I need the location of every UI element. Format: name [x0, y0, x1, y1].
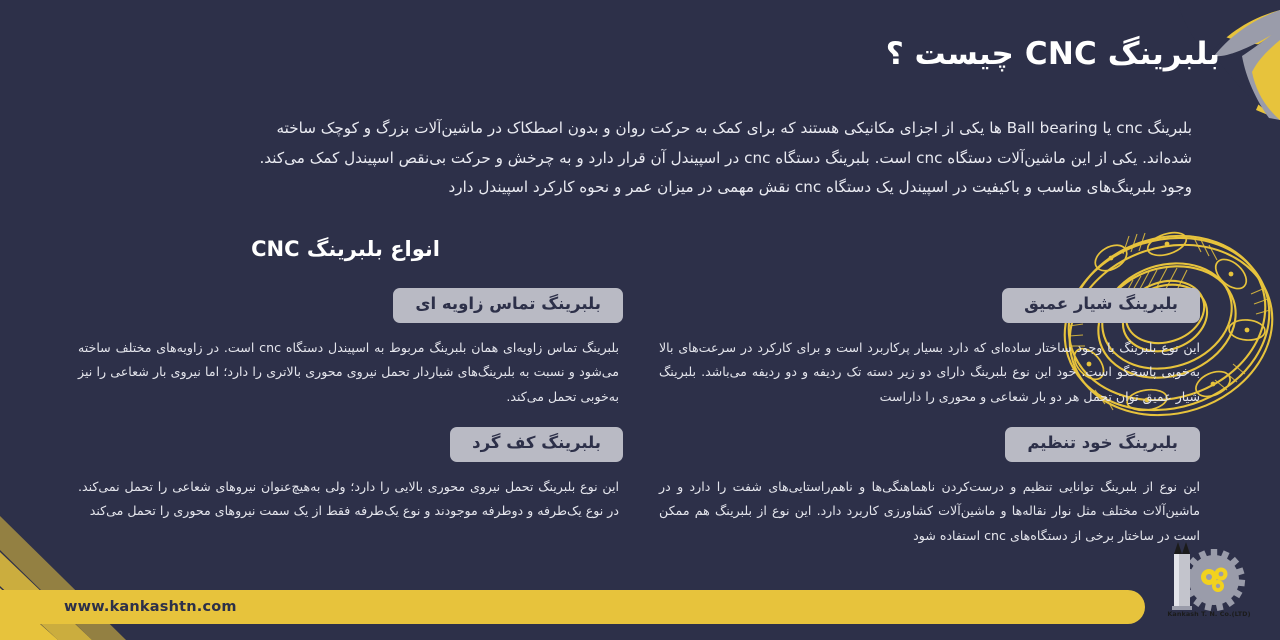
card-angular-contact: بلبرینگ تماس زاویه ای بلبرینگ تماس زاویه… [78, 288, 623, 409]
card-title-self-aligning: بلبرینگ خود تنظیم [1005, 427, 1200, 462]
card-body-thrust: این نوع بلبرینگ تحمل نیروی محوری بالایی … [78, 475, 623, 524]
card-title-angular-contact: بلبرینگ تماس زاویه ای [393, 288, 623, 323]
intro-line-2: شده‌اند. یکی از این ماشین‌آلات دستگاه cn… [88, 144, 1192, 174]
footer-website-link[interactable]: www.kankashtn.com [64, 590, 237, 624]
intro-line-3: وجود بلبرینگ‌های مناسب و باکیفیت در اسپی… [88, 173, 1192, 203]
card-self-aligning: بلبرینگ خود تنظیم این نوع از بلبرینگ توا… [655, 427, 1200, 548]
bearing-types-grid: بلبرینگ شیار عمیق این نوع بلبرینگ با وجو… [78, 288, 1200, 549]
card-body-self-aligning: این نوع از بلبرینگ توانایی تنظیم و درست‌… [655, 475, 1200, 549]
section-heading: انواع بلبرینگ CNC [251, 237, 440, 261]
intro-paragraph: بلبرینگ cnc یا Ball bearing ها یکی از اج… [88, 114, 1192, 203]
card-title-deep-groove: بلبرینگ شیار عمیق [1002, 288, 1200, 323]
card-title-thrust: بلبرینگ کف گرد [450, 427, 623, 462]
brand-caption: Kankash T. N. Co.(LTD) [1160, 610, 1258, 618]
intro-line-1: بلبرینگ cnc یا Ball bearing ها یکی از اج… [88, 114, 1192, 144]
gear-logo-icon [1166, 540, 1252, 616]
card-body-angular-contact: بلبرینگ تماس زاویه‌ای همان بلبرینگ مربوط… [78, 336, 623, 410]
page-title: بلبرینگ CNC چیست ؟ [886, 36, 1220, 72]
card-deep-groove: بلبرینگ شیار عمیق این نوع بلبرینگ با وجو… [655, 288, 1200, 409]
slide-root: بلبرینگ CNC چیست ؟ بلبرینگ cnc یا Ball b… [0, 0, 1280, 640]
card-thrust: بلبرینگ کف گرد این نوع بلبرینگ تحمل نیرو… [78, 427, 623, 548]
card-body-deep-groove: این نوع بلبرینگ با وجود ساختار ساده‌ای ک… [655, 336, 1200, 410]
